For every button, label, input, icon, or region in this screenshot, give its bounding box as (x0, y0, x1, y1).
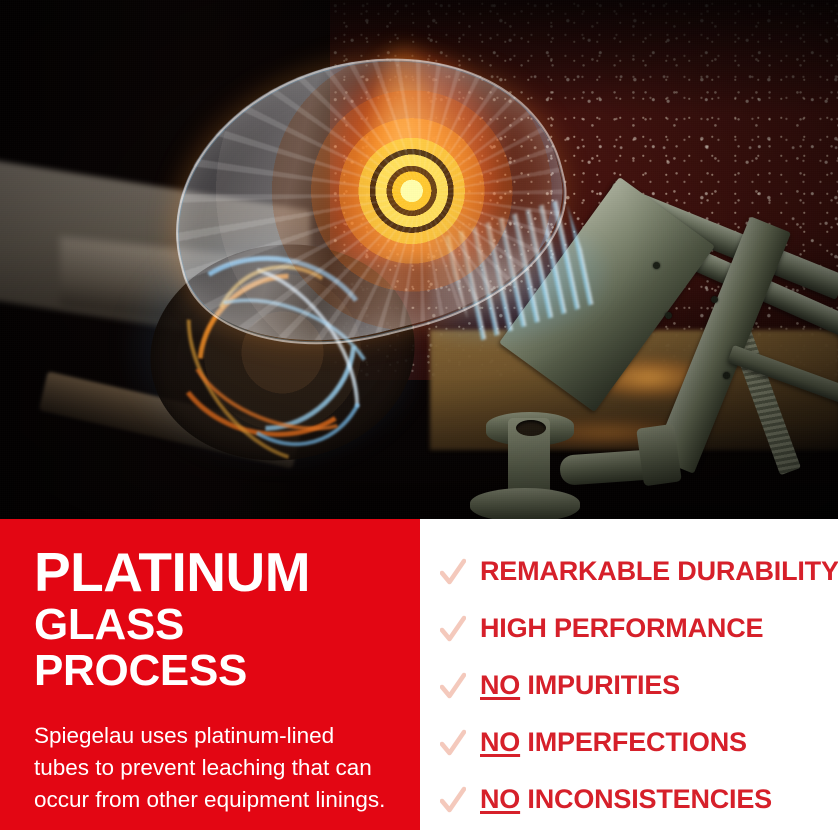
bolt-hole-icon (711, 296, 718, 303)
feature-list-panel: REMARKABLE DURABILITY HIGH PERFORMANCE N… (420, 519, 838, 830)
bottom-bands: PLATINUM GLASS PROCESS Spiegelau uses pl… (0, 519, 838, 830)
feature-label: NO IMPURITIES (480, 670, 680, 701)
page-title-sub: GLASS PROCESS (34, 602, 390, 694)
poster-root: PLATINUM GLASS PROCESS Spiegelau uses pl… (0, 0, 838, 830)
list-item: NO INCONSISTENCIES (440, 771, 828, 828)
feature-label: NO IMPERFECTIONS (480, 727, 747, 758)
feature-label: HIGH PERFORMANCE (480, 613, 763, 644)
feature-label-main: IMPERFECTIONS (527, 727, 746, 757)
feature-negation: NO (480, 727, 520, 757)
list-item: HIGH PERFORMANCE (440, 600, 828, 657)
list-item: REMARKABLE DURABILITY (440, 543, 828, 600)
feature-label: REMARKABLE DURABILITY (480, 556, 838, 587)
check-icon (440, 785, 466, 815)
glassblowing-photo (0, 0, 838, 519)
feature-negation: NO (480, 784, 520, 814)
pipe-base-collar (470, 488, 580, 519)
list-item: NO IMPURITIES (440, 657, 828, 714)
list-item: NO IMPERFECTIONS (440, 714, 828, 771)
feature-label-main: INCONSISTENCIES (527, 784, 772, 814)
pipe-stub (636, 424, 682, 487)
check-icon (440, 728, 466, 758)
pipe-opening (516, 420, 546, 436)
feature-negation: NO (480, 670, 520, 700)
red-text-panel: PLATINUM GLASS PROCESS Spiegelau uses pl… (0, 519, 420, 830)
check-icon (440, 671, 466, 701)
bolt-hole-icon (723, 372, 730, 379)
check-icon (440, 557, 466, 587)
body-copy: Spiegelau uses platinum-lined tubes to p… (34, 720, 390, 816)
feature-label-main: IMPURITIES (527, 670, 680, 700)
bolt-hole-icon (653, 262, 660, 269)
check-icon (440, 614, 466, 644)
feature-label: NO INCONSISTENCIES (480, 784, 772, 815)
bolt-hole-icon (665, 312, 672, 319)
page-title-main: PLATINUM (34, 546, 390, 599)
